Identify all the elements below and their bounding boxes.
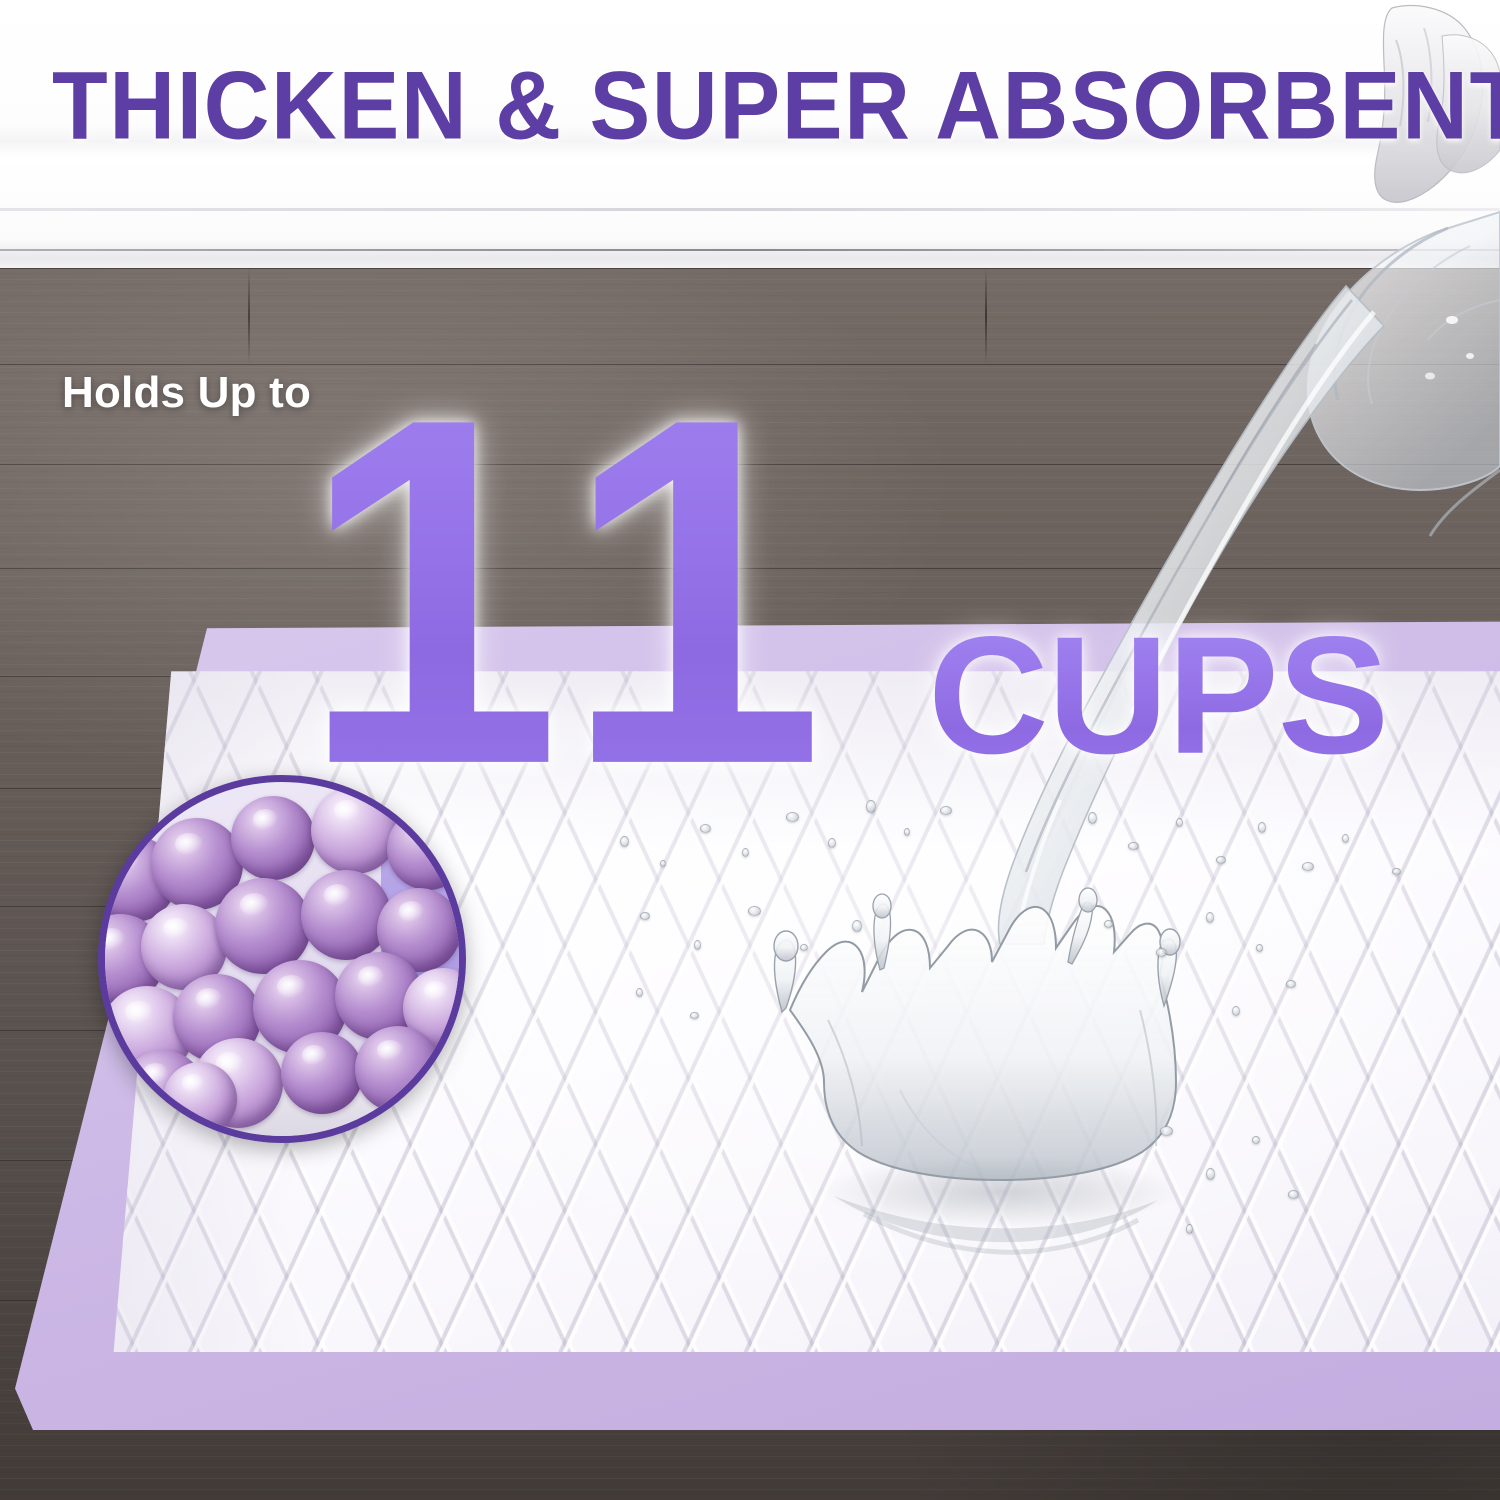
- capacity-unit: CUPS: [928, 612, 1388, 779]
- wall-seam-upper: [0, 208, 1500, 211]
- absorbent-beads-inset: [98, 775, 466, 1143]
- claim-prefix-label: Holds Up to: [62, 368, 311, 418]
- page-title: THICKEN & SUPER ABSORBENT: [52, 58, 1500, 154]
- baseboard-edge: [0, 249, 1500, 251]
- product-marketing-image: 11 CUPS Holds Up to THICKEN & SUPER ABSO…: [0, 0, 1500, 1500]
- capacity-number: 11: [300, 345, 853, 839]
